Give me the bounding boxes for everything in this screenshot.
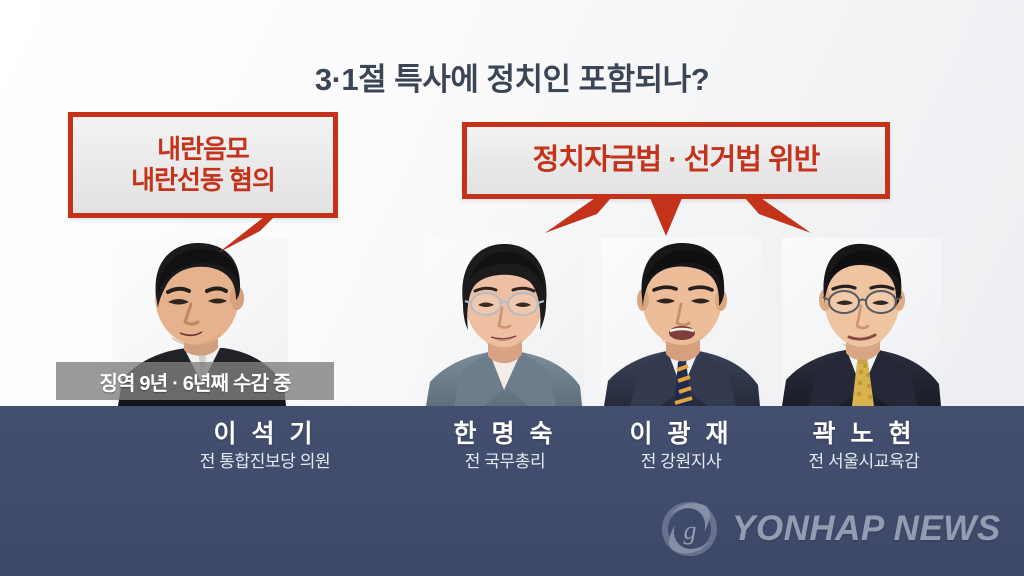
portrait-photo-kwak-no-hyun bbox=[782, 238, 942, 406]
yonhap-swirl-icon: g bbox=[660, 500, 720, 558]
person-label-3: 곽 노 현 전 서울시교육감 bbox=[766, 420, 962, 472]
person-role-3: 전 서울시교육감 bbox=[766, 451, 962, 472]
person-label-0: 이 석 기 전 통합진보당 의원 bbox=[150, 420, 380, 472]
person-label-1: 한 명 숙 전 국무총리 bbox=[412, 420, 598, 472]
news-graphic: 3·1절 특사에 정치인 포함되나? bbox=[0, 0, 1024, 576]
callout-left-line1: 내란음모 bbox=[157, 134, 249, 165]
person-name-3: 곽 노 현 bbox=[766, 420, 962, 448]
callout-left-pointer bbox=[218, 217, 274, 253]
person-label-2: 이 광 재 전 강원지사 bbox=[588, 420, 774, 472]
person-role-2: 전 강원지사 bbox=[588, 451, 774, 472]
status-badge-sentence: 징역 9년 · 6년째 수감 중 bbox=[56, 362, 334, 400]
person-role-1: 전 국무총리 bbox=[412, 451, 598, 472]
portrait-photo-han-myeong-sook bbox=[424, 238, 584, 406]
person-name-0: 이 석 기 bbox=[150, 420, 380, 448]
svg-text:g: g bbox=[684, 516, 697, 545]
callout-right-charges: 정치자금법 · 선거법 위반 bbox=[462, 122, 890, 199]
callout-right-pointer-3 bbox=[745, 198, 811, 233]
callout-left-charges: 내란음모 내란선동 혐의 bbox=[68, 112, 338, 218]
callout-right-pointer-2 bbox=[650, 198, 682, 236]
watermark: g YONHAP NEWS bbox=[660, 498, 1001, 560]
person-name-2: 이 광 재 bbox=[588, 420, 774, 448]
page-title: 3·1절 특사에 정치인 포함되나? bbox=[0, 54, 1024, 99]
person-name-1: 한 명 숙 bbox=[412, 420, 598, 448]
callout-right-pointer-1 bbox=[545, 198, 611, 233]
watermark-text: YONHAP NEWS bbox=[732, 509, 1001, 549]
callout-right-line1: 정치자금법 · 선거법 위반 bbox=[533, 143, 820, 177]
callout-left-line2: 내란선동 혐의 bbox=[131, 165, 275, 196]
person-role-0: 전 통합진보당 의원 bbox=[150, 451, 380, 472]
portrait-photo-lee-kwang-jae bbox=[602, 238, 762, 406]
